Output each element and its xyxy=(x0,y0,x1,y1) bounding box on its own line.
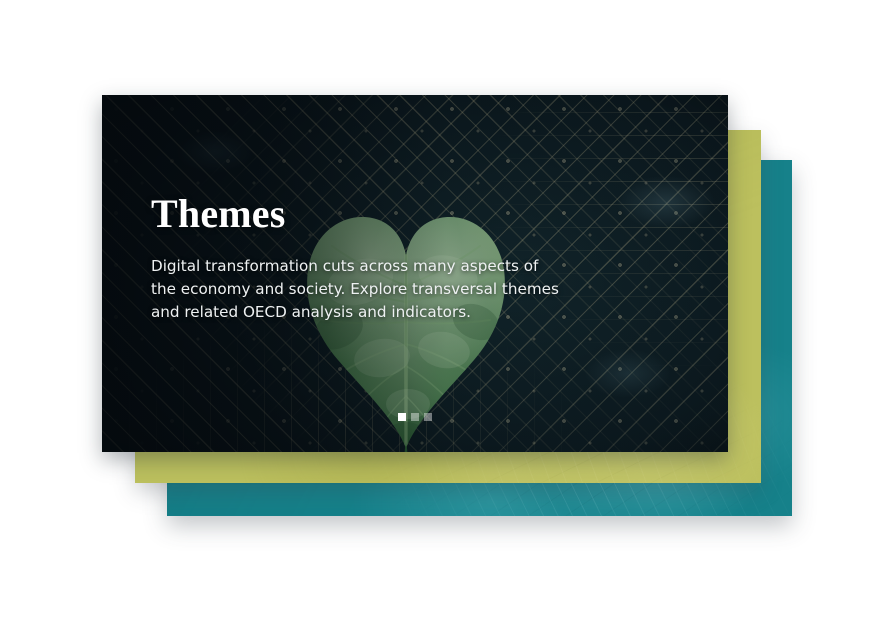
hero-carousel-slide[interactable]: Themes Digital transformation cuts acros… xyxy=(102,95,728,452)
page-canvas: Themes Digital transformation cuts acros… xyxy=(0,0,896,624)
carousel-dot-2[interactable] xyxy=(411,413,419,421)
carousel-pagination[interactable] xyxy=(102,413,728,421)
page-title: Themes xyxy=(151,193,581,235)
carousel-dot-1[interactable] xyxy=(398,413,406,421)
hero-description: Digital transformation cuts across many … xyxy=(151,255,566,324)
carousel-dot-3[interactable] xyxy=(424,413,432,421)
hero-copy-block: Themes Digital transformation cuts acros… xyxy=(151,193,581,324)
